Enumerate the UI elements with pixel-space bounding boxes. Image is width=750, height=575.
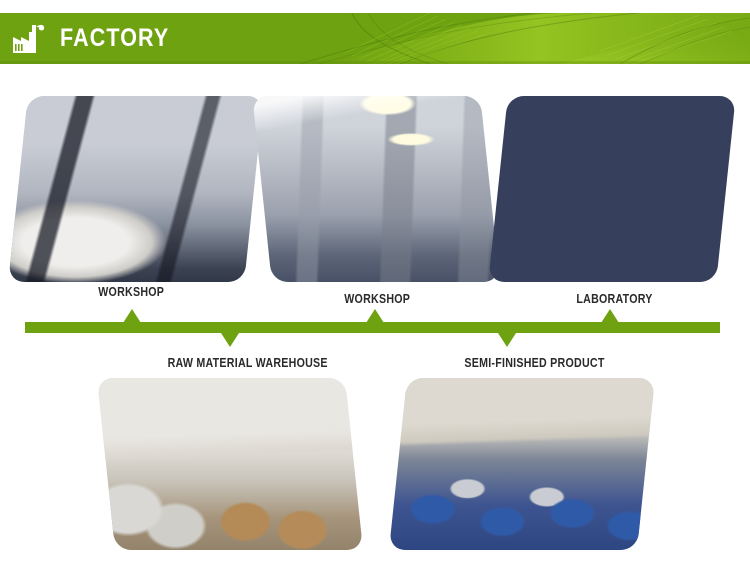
factory-icon — [12, 24, 46, 54]
photo-workshop-1-image — [8, 96, 264, 282]
photo-raw-material-warehouse-image — [97, 378, 363, 550]
timeline-marker-workshop-2 — [366, 309, 384, 323]
timeline-marker-raw-material-warehouse — [221, 333, 239, 347]
timeline-bar — [25, 322, 720, 333]
photo-semi-finished-product[interactable] — [389, 378, 655, 550]
header-banner: FACTORY — [0, 13, 750, 64]
photo-laboratory-image — [488, 96, 736, 282]
factory-showcase-page: { "header": { "title": "FACTORY", "icon"… — [0, 0, 750, 575]
process-timeline — [0, 300, 750, 350]
photo-workshop-2-image — [252, 96, 500, 282]
photo-semi-finished-product-image — [389, 378, 655, 550]
caption-workshop-1: WORKSHOP — [98, 284, 164, 299]
photo-raw-material-warehouse[interactable] — [97, 378, 363, 550]
page-title: FACTORY — [60, 24, 169, 53]
timeline-marker-semi-finished-product — [498, 333, 516, 347]
photo-laboratory[interactable] — [488, 96, 736, 282]
photo-workshop-2[interactable] — [252, 96, 500, 282]
photo-workshop-1[interactable] — [8, 96, 264, 282]
timeline-marker-workshop-1 — [123, 309, 141, 323]
caption-raw-material-warehouse: RAW MATERIAL WAREHOUSE — [168, 355, 328, 370]
caption-semi-finished-product: SEMI-FINISHED PRODUCT — [464, 355, 604, 370]
timeline-marker-laboratory — [601, 309, 619, 323]
